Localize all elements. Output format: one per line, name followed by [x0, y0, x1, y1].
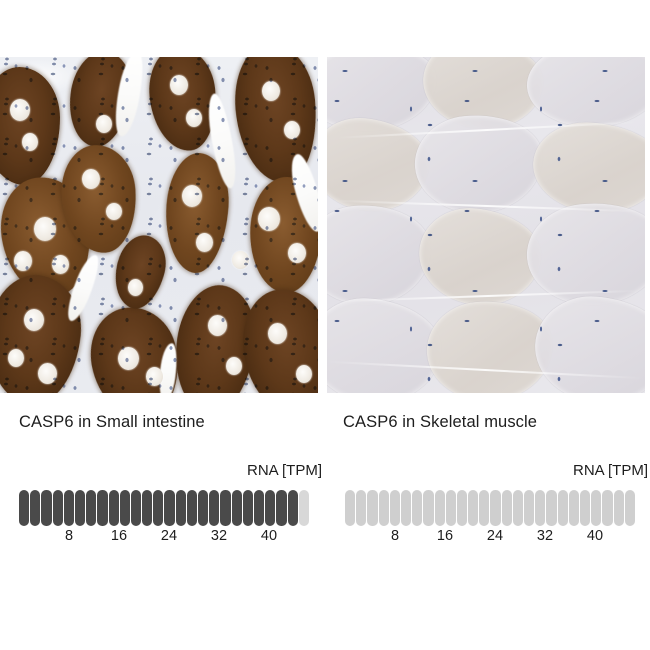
- micrograph-image-skeletal-muscle: [327, 57, 645, 393]
- rna-bar-segment: [457, 490, 467, 526]
- caption-skeletal-muscle: CASP6 in Skeletal muscle: [343, 413, 537, 432]
- rna-tick-24: 24: [487, 528, 503, 544]
- rna-bar-segment: [153, 490, 163, 526]
- rna-bar-segment: [164, 490, 174, 526]
- rna-bar-segment: [97, 490, 107, 526]
- rna-bar-segment: [513, 490, 523, 526]
- rna-bar-skeletal-muscle[interactable]: [345, 490, 635, 526]
- rna-bar-segment: [198, 490, 208, 526]
- rna-chart-skeletal-muscle: RNA [TPM] 816243240: [340, 462, 650, 552]
- rna-bar-segment: [524, 490, 534, 526]
- micrograph-small-intestine[interactable]: [0, 57, 318, 393]
- rna-bar-segment: [131, 490, 141, 526]
- rna-tick-16: 16: [437, 528, 453, 544]
- rna-bar-segment: [423, 490, 433, 526]
- rna-bar-segment: [345, 490, 355, 526]
- hematoxylin-nuclei: [0, 57, 318, 393]
- rna-bar-segment: [446, 490, 456, 526]
- rna-bar-segment: [254, 490, 264, 526]
- rna-bar-segment: [435, 490, 445, 526]
- rna-bar-small-intestine[interactable]: [19, 490, 309, 526]
- rna-bar-segment: [142, 490, 152, 526]
- hematoxylin-nuclei: [327, 57, 645, 393]
- rna-bar-segment: [75, 490, 85, 526]
- rna-bar-segment: [591, 490, 601, 526]
- rna-bar-segment: [64, 490, 74, 526]
- rna-bar-segment: [502, 490, 512, 526]
- rna-bar-segment: [53, 490, 63, 526]
- rna-bar-segment: [535, 490, 545, 526]
- rna-bar-segment: [546, 490, 556, 526]
- micrograph-skeletal-muscle[interactable]: [327, 57, 645, 393]
- rna-bar-segment: [490, 490, 500, 526]
- rna-tick-labels: 816243240: [340, 528, 650, 550]
- rna-bar-segment: [41, 490, 51, 526]
- rna-bar-segment: [19, 490, 29, 526]
- rna-bar-segment: [243, 490, 253, 526]
- figure-root: CASP6 in Small intestine CASP6 in Skelet…: [0, 0, 650, 650]
- rna-tick-16: 16: [111, 528, 127, 544]
- rna-bar-segment: [412, 490, 422, 526]
- rna-bar-segment: [379, 490, 389, 526]
- rna-bar-segment: [625, 490, 635, 526]
- rna-bar-segment: [209, 490, 219, 526]
- rna-bar-segment: [265, 490, 275, 526]
- rna-bar-segment: [390, 490, 400, 526]
- rna-bar-segment: [30, 490, 40, 526]
- rna-bar-segment: [479, 490, 489, 526]
- rna-bar-segment: [614, 490, 624, 526]
- rna-bar-segment: [176, 490, 186, 526]
- rna-bar-segment: [367, 490, 377, 526]
- rna-tick-40: 40: [587, 528, 603, 544]
- rna-tick-32: 32: [537, 528, 553, 544]
- rna-tick-24: 24: [161, 528, 177, 544]
- rna-bar-segment: [187, 490, 197, 526]
- rna-axis-label: RNA [TPM]: [573, 462, 648, 479]
- rna-bar-segment: [299, 490, 309, 526]
- rna-bar-segment: [120, 490, 130, 526]
- rna-bar-segment: [86, 490, 96, 526]
- caption-small-intestine: CASP6 in Small intestine: [19, 413, 205, 432]
- rna-bar-segment: [401, 490, 411, 526]
- rna-bar-segment: [288, 490, 298, 526]
- rna-bar-segment: [602, 490, 612, 526]
- rna-bar-segment: [558, 490, 568, 526]
- rna-bar-segment: [109, 490, 119, 526]
- rna-bar-segment: [468, 490, 478, 526]
- rna-tick-32: 32: [211, 528, 227, 544]
- rna-axis-label: RNA [TPM]: [247, 462, 322, 479]
- rna-bar-segment: [580, 490, 590, 526]
- rna-chart-small-intestine: RNA [TPM] 816243240: [14, 462, 324, 552]
- rna-bar-segment: [220, 490, 230, 526]
- rna-bar-segment: [276, 490, 286, 526]
- rna-tick-labels: 816243240: [14, 528, 324, 550]
- rna-bar-segment: [569, 490, 579, 526]
- rna-tick-8: 8: [391, 528, 399, 544]
- micrograph-image-small-intestine: [0, 57, 318, 393]
- rna-tick-40: 40: [261, 528, 277, 544]
- rna-bar-segment: [232, 490, 242, 526]
- rna-bar-segment: [356, 490, 366, 526]
- rna-tick-8: 8: [65, 528, 73, 544]
